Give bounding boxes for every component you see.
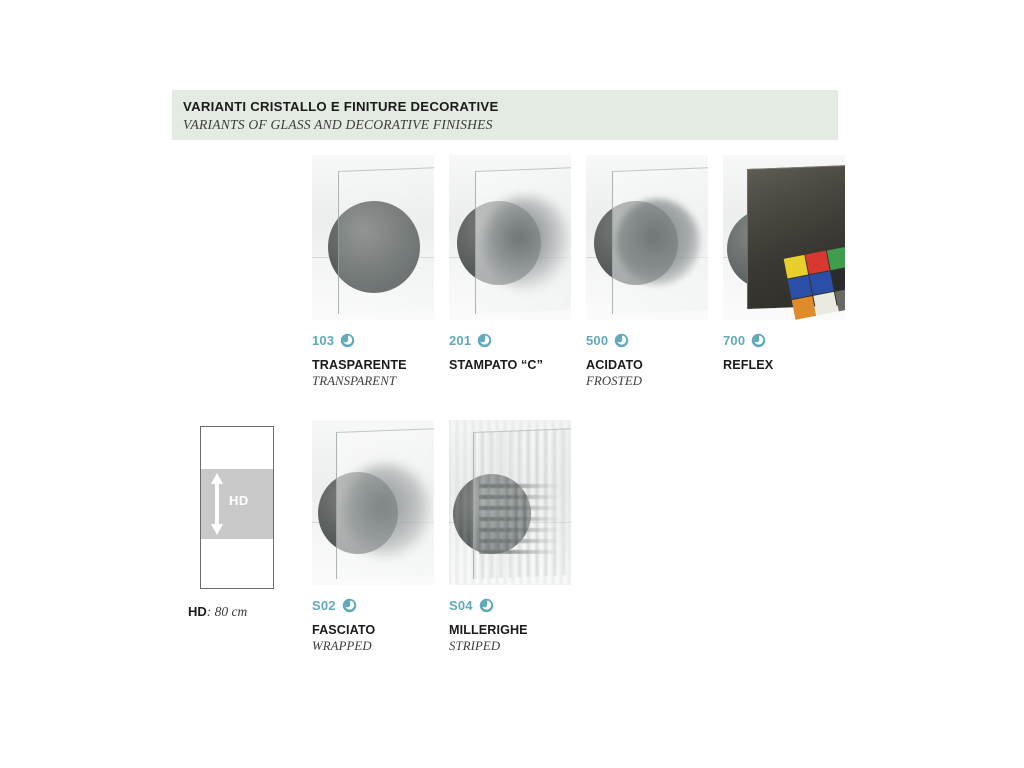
color-swatch bbox=[784, 255, 808, 279]
color-reference-chart bbox=[784, 246, 845, 319]
glass-sample-stampato-c-image bbox=[449, 155, 571, 320]
page-subtitle: VARIANTS OF GLASS AND DECORATIVE FINISHE… bbox=[183, 116, 838, 134]
sphere-diffused bbox=[483, 197, 569, 289]
sample-card-103[interactable]: 103 TRASPARENTE TRANSPARENT bbox=[312, 155, 434, 389]
sample-code: 201 bbox=[449, 333, 471, 348]
sample-code: 500 bbox=[586, 333, 608, 348]
sample-caption: S02 FASCIATO WRAPPED bbox=[312, 585, 434, 654]
sample-name-it: TRASPARENTE bbox=[312, 358, 434, 372]
sample-card-700[interactable]: 700 REFLEX bbox=[723, 155, 845, 389]
hd-panel-outline: HD bbox=[200, 426, 274, 589]
color-swatch bbox=[805, 251, 829, 275]
page-title: VARIANTI CRISTALLO E FINITURE DECORATIVE bbox=[183, 98, 838, 115]
hd-diagram: HD HD: 80 cm bbox=[200, 426, 280, 621]
color-swatch bbox=[827, 246, 845, 270]
sample-code: S04 bbox=[449, 598, 473, 613]
sample-code: 700 bbox=[723, 333, 745, 348]
glass-sample-acidato-image bbox=[586, 155, 708, 320]
finish-badge-icon bbox=[342, 598, 357, 613]
code-line: 103 bbox=[312, 332, 434, 349]
sample-caption: 500 ACIDATO FROSTED bbox=[586, 320, 708, 389]
sample-caption: 201 STAMPATO “C” bbox=[449, 320, 571, 372]
sample-name-en: WRAPPED bbox=[312, 639, 434, 654]
sample-caption: 700 REFLEX bbox=[723, 320, 845, 372]
finish-badge-icon bbox=[751, 333, 766, 348]
fluted-glass-texture bbox=[449, 420, 571, 585]
finish-badge-icon bbox=[614, 333, 629, 348]
glass-pane bbox=[338, 167, 434, 314]
finish-badge-icon bbox=[479, 598, 494, 613]
color-swatch bbox=[809, 271, 833, 295]
glass-sample-fasciato-image bbox=[312, 420, 434, 585]
code-line: 500 bbox=[586, 332, 708, 349]
sample-row-2: S02 FASCIATO WRAPPED bbox=[312, 420, 571, 654]
code-line: 700 bbox=[723, 332, 845, 349]
color-swatch bbox=[788, 275, 812, 299]
sample-caption: 103 TRASPARENTE TRANSPARENT bbox=[312, 320, 434, 389]
hd-caption-value: : 80 cm bbox=[207, 604, 248, 619]
sample-name-it: ACIDATO bbox=[586, 358, 708, 372]
sample-caption: S04 MILLERIGHE STRIPED bbox=[449, 585, 571, 654]
sample-card-s02[interactable]: S02 FASCIATO WRAPPED bbox=[312, 420, 434, 654]
hd-band-label: HD bbox=[229, 493, 249, 508]
sample-name-it: MILLERIGHE bbox=[449, 623, 571, 637]
sample-card-s04[interactable]: S04 MILLERIGHE STRIPED bbox=[449, 420, 571, 654]
color-swatch bbox=[792, 296, 816, 320]
sample-name-en: STRIPED bbox=[449, 639, 571, 654]
code-line: S02 bbox=[312, 597, 434, 614]
sample-code: S02 bbox=[312, 598, 336, 613]
finish-badge-icon bbox=[340, 333, 355, 348]
sample-name-en: TRANSPARENT bbox=[312, 374, 434, 389]
hd-caption: HD: 80 cm bbox=[188, 603, 280, 621]
sample-card-201[interactable]: 201 STAMPATO “C” bbox=[449, 155, 571, 389]
sample-name-it: REFLEX bbox=[723, 358, 845, 372]
glass-sample-transparent-image bbox=[312, 155, 434, 320]
finish-badge-icon bbox=[477, 333, 492, 348]
sample-code: 103 bbox=[312, 333, 334, 348]
section-header-band: VARIANTI CRISTALLO E FINITURE DECORATIVE… bbox=[172, 90, 838, 140]
code-line: 201 bbox=[449, 332, 571, 349]
sample-row-1: 103 TRASPARENTE TRANSPARENT bbox=[312, 155, 845, 389]
sphere-diffused bbox=[342, 464, 430, 556]
color-swatch bbox=[813, 292, 837, 316]
sample-card-500[interactable]: 500 ACIDATO FROSTED bbox=[586, 155, 708, 389]
hd-double-arrow-icon bbox=[210, 473, 224, 535]
sample-name-en: FROSTED bbox=[586, 374, 708, 389]
glass-sample-reflex-image bbox=[723, 155, 845, 320]
code-line: S04 bbox=[449, 597, 571, 614]
page-canvas: VARIANTI CRISTALLO E FINITURE DECORATIVE… bbox=[0, 0, 1024, 768]
sphere-diffused bbox=[616, 199, 700, 285]
sample-name-it: FASCIATO bbox=[312, 623, 434, 637]
glass-sample-millerighe-image bbox=[449, 420, 571, 585]
sample-name-it: STAMPATO “C” bbox=[449, 358, 571, 372]
hd-caption-key: HD bbox=[188, 604, 207, 619]
